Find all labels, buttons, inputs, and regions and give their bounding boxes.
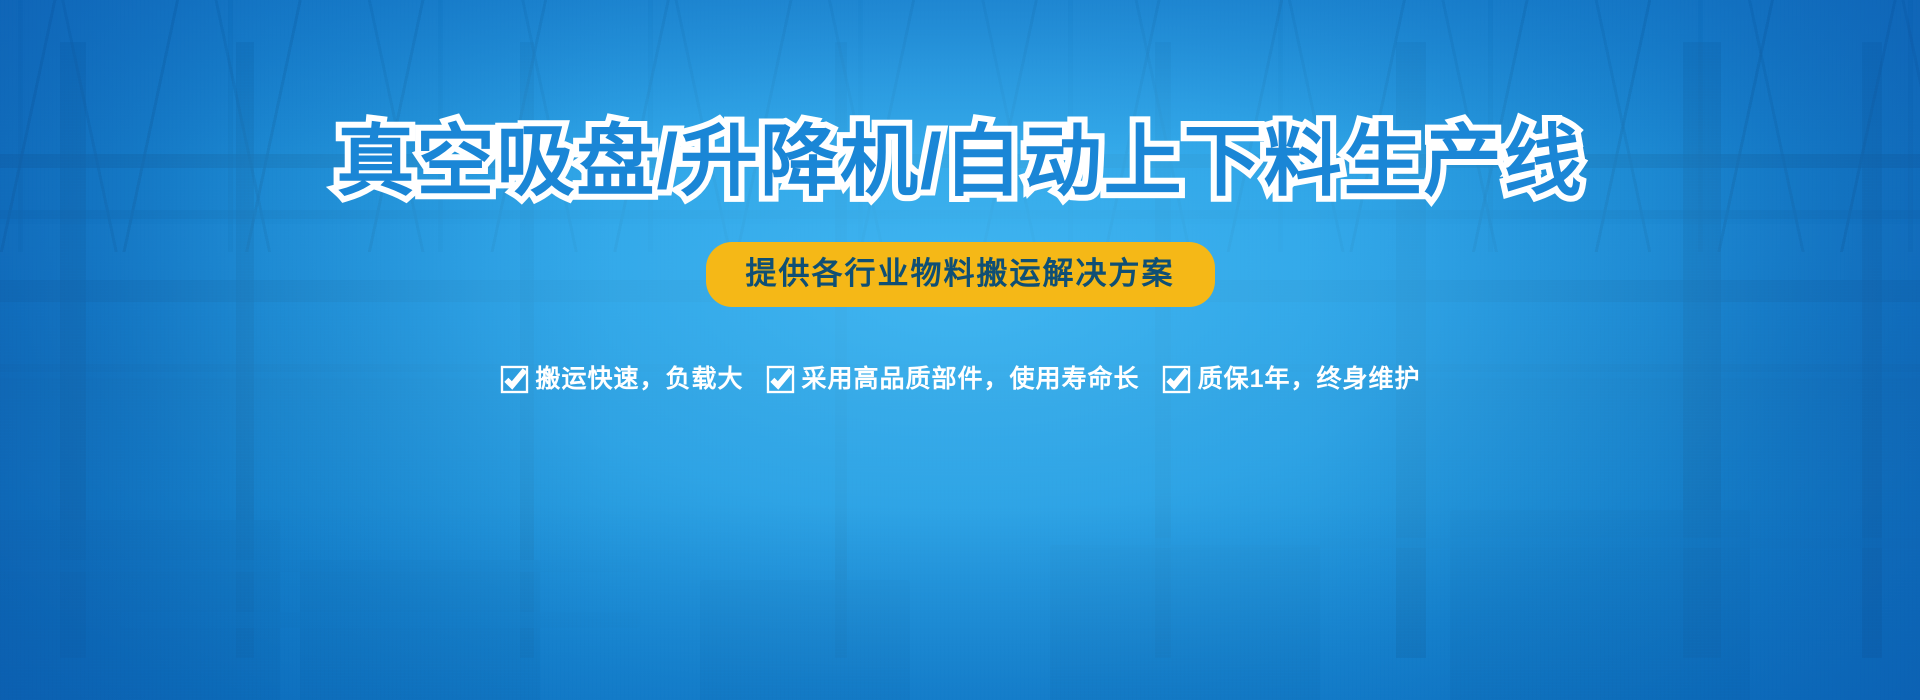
feature-item: 搬运快速，负载大 <box>500 365 744 394</box>
feature-item: 质保1年，终身维护 <box>1162 365 1421 394</box>
feature-list: 搬运快速，负载大 采用高品质部件，使用寿命长 质保1年，终身维护 <box>500 365 1421 394</box>
feature-label: 搬运快速，负载大 <box>536 367 744 392</box>
check-square-icon <box>1162 365 1191 394</box>
feature-label: 质保1年，终身维护 <box>1198 367 1421 392</box>
check-square-icon <box>500 365 529 394</box>
banner-content: 真空吸盘/升降机/自动上下料生产线 提供各行业物料搬运解决方案 搬运快速，负载大… <box>0 0 1920 700</box>
hero-banner: 真空吸盘/升降机/自动上下料生产线 提供各行业物料搬运解决方案 搬运快速，负载大… <box>0 0 1920 700</box>
feature-item: 采用高品质部件，使用寿命长 <box>766 365 1140 394</box>
banner-subtitle-pill: 提供各行业物料搬运解决方案 <box>706 242 1215 307</box>
feature-label: 采用高品质部件，使用寿命长 <box>802 367 1140 392</box>
check-square-icon <box>766 365 795 394</box>
banner-title: 真空吸盘/升降机/自动上下料生产线 <box>336 122 1583 200</box>
